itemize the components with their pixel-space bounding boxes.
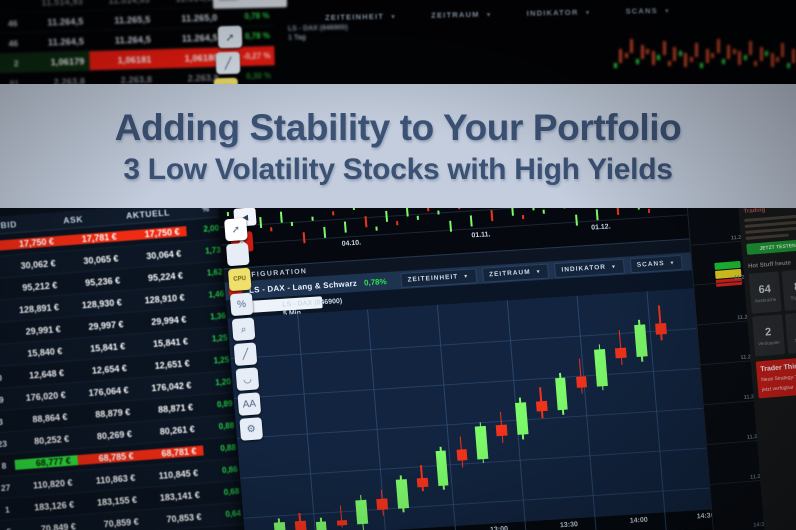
- candlestick: [396, 479, 409, 508]
- row-id: 2: [0, 58, 24, 69]
- row-ask: 30,065 €: [62, 252, 126, 267]
- stat-tile[interactable]: 5 Trends: [785, 312, 796, 354]
- candlestick: [469, 215, 472, 226]
- candle-wick: [278, 518, 282, 530]
- row-bid: 12,648 €: [8, 367, 72, 382]
- candlestick: [343, 222, 346, 233]
- candlestick: [648, 209, 650, 213]
- candlestick: [426, 208, 429, 211]
- row-aktuell: 95,224 €: [127, 269, 191, 284]
- candlestick: [576, 376, 588, 388]
- candlestick: [227, 212, 229, 216]
- search-icon[interactable]: ⌕: [232, 317, 256, 341]
- candlestick: [684, 53, 687, 67]
- row-bid: 17,750 €: [0, 235, 61, 250]
- candlestick: [760, 47, 763, 61]
- candlestick: [536, 400, 548, 412]
- candlestick: [615, 347, 627, 359]
- row-bid: 11.264,5: [22, 16, 89, 28]
- candlestick: [673, 47, 676, 61]
- candlestick: [259, 217, 262, 228]
- candlestick: [717, 39, 720, 53]
- candlestick: [575, 215, 578, 226]
- header-aktuell: AKTUELL: [122, 208, 186, 220]
- percent-tool-icon[interactable]: %: [230, 293, 254, 317]
- candlestick: [744, 55, 747, 60]
- candlestick: [543, 210, 545, 214]
- candlestick: [787, 63, 790, 68]
- candlestick: [637, 208, 640, 210]
- header-ask: ASK: [59, 211, 123, 226]
- candle-wick: [638, 320, 643, 361]
- candlestick: [332, 211, 334, 215]
- time-tick: 13:30: [560, 521, 578, 529]
- row-ask: 29,997 €: [67, 318, 131, 333]
- candlestick: [738, 51, 741, 65]
- row-id: 46: [0, 38, 23, 49]
- candlestick: [417, 216, 419, 220]
- header-bid: BID: [0, 215, 60, 230]
- candlestick: [435, 451, 449, 486]
- candle-wick: [479, 422, 484, 463]
- grid-line: [297, 314, 317, 530]
- candlestick: [641, 45, 644, 59]
- candle-wick: [519, 398, 524, 439]
- top-symbol-label: LS - DAX (846900) 1 Tag: [288, 23, 348, 42]
- candlestick: [706, 49, 709, 63]
- date-tick: 04.10.: [341, 240, 361, 248]
- row-ask: 15,841 €: [69, 340, 133, 355]
- candlestick: [396, 221, 398, 225]
- row-id: [0, 3, 22, 4]
- candlestick: [614, 63, 617, 68]
- candlestick: [655, 323, 667, 335]
- cursor-tool-icon[interactable]: ➚: [218, 26, 243, 49]
- menu-zeiteinheit[interactable]: ZEITEINHEIT: [325, 11, 397, 22]
- candlestick: [311, 217, 313, 221]
- candlestick: [733, 49, 736, 54]
- line-tool-icon[interactable]: ╱: [234, 342, 258, 366]
- candlestick: [302, 232, 305, 243]
- top-symbol-name: LS - DAX (846900): [288, 23, 348, 33]
- row-ask: 11.264,5: [90, 34, 157, 46]
- row-ask: 17,781 €: [60, 230, 124, 245]
- candle-wick: [658, 306, 662, 341]
- candlestick: [405, 208, 408, 217]
- candlestick: [668, 61, 671, 66]
- menu-zeitraum[interactable]: ZEITRAUM: [482, 263, 550, 282]
- candlestick: [291, 222, 293, 226]
- candlestick: [679, 51, 682, 56]
- candlestick: [663, 41, 666, 55]
- stat-tile[interactable]: 8 Signale: [781, 269, 796, 311]
- row-bid: 128,891 €: [3, 301, 67, 316]
- row-ask: 128,930 €: [65, 296, 129, 311]
- row-bid: 11.514,93: [22, 0, 89, 8]
- date-tick: 01.12.: [591, 223, 611, 231]
- row-bid: 30,062 €: [0, 257, 63, 272]
- row-aktuell: 88,871 €: [137, 401, 201, 416]
- candlestick: [531, 208, 534, 210]
- candlestick: [458, 208, 460, 209]
- candlestick: [456, 449, 468, 461]
- text-tool-icon[interactable]: AA: [237, 392, 261, 416]
- row-aktuell: 176,042 €: [135, 379, 199, 394]
- candlestick: [646, 49, 649, 54]
- time-tick: 13:00: [490, 526, 508, 530]
- candlestick: [437, 210, 439, 214]
- hot-stuff-title: Hot Stuff heute: [748, 259, 796, 270]
- row-bid: 29,991 €: [4, 323, 68, 338]
- row-nev: 1: [0, 503, 19, 515]
- candlestick: [336, 520, 347, 525]
- menu-zeitraum[interactable]: ZEITRAUM: [431, 9, 493, 19]
- stat-tile[interactable]: 64 Ausbrüche: [749, 271, 782, 313]
- settings-tool-icon[interactable]: ⚙: [239, 417, 263, 441]
- candlestick: [776, 57, 779, 62]
- row-aktuell: 110,845 €: [142, 467, 206, 482]
- instrument-label: LS - DAX - Lang & Schwarz: [244, 278, 363, 295]
- candlestick-plot[interactable]: 12:30 13:00 13:30 14:00 14:30: [227, 286, 745, 530]
- cursor-tool-icon[interactable]: ➚: [224, 218, 248, 242]
- candlestick: [323, 227, 326, 238]
- blank-tool-icon[interactable]: [226, 243, 250, 267]
- row-ask: 68,785 €: [77, 450, 141, 465]
- time-tick: 14:00: [630, 517, 648, 525]
- candle-wick: [559, 373, 564, 414]
- row-aktuell: 70,853 €: [145, 511, 209, 526]
- candlestick: [555, 377, 568, 410]
- line-tool-icon[interactable]: ╱: [216, 52, 241, 75]
- top-search-placeholder: Suchen: [218, 0, 238, 3]
- candlestick: [771, 53, 774, 67]
- candlestick: [781, 43, 784, 57]
- candlestick: [449, 221, 452, 232]
- row-ask: 88,879 €: [74, 406, 138, 421]
- grid-line: [367, 309, 387, 530]
- candlestick: [356, 500, 369, 525]
- row-ask: 11.265,5: [89, 14, 156, 26]
- news-headline: Trader Fox Live Trading: [743, 208, 796, 215]
- candlestick: [385, 211, 388, 222]
- row-aktuell: 29,994 €: [130, 313, 194, 328]
- candlestick: [475, 426, 488, 459]
- top-quote-strip: 11.514,93 11.514,93 11.514,93 0,79 % 46 …: [0, 0, 796, 86]
- page-title: Adding Stability to Your Portfolio: [115, 106, 682, 150]
- row-ask: 11.514,93: [89, 0, 156, 6]
- row-aktuell: 80,261 €: [138, 423, 202, 438]
- quote-board: NEV BID ASK AKTUELL % 2117,750 €17,781 €…: [0, 208, 257, 530]
- candlestick: [376, 498, 388, 510]
- candlestick: [619, 49, 622, 63]
- candle-wick: [420, 465, 424, 491]
- candle-wick: [340, 506, 343, 528]
- news-text-line: [746, 233, 789, 239]
- menu-indikator[interactable]: INDIKATOR: [554, 258, 625, 277]
- promo-line-2: jetzt verfügbar: [762, 383, 796, 393]
- row-aktuell: 1,06180: [157, 52, 224, 64]
- row-nev: 3: [0, 416, 12, 428]
- candlestick: [496, 425, 508, 437]
- candlestick: [630, 39, 633, 53]
- row-bid: 110,820 €: [16, 477, 80, 492]
- candlestick: [722, 59, 725, 64]
- row-id: 46: [0, 18, 23, 29]
- candle-wick: [320, 518, 324, 530]
- stat-tile[interactable]: 2 Verdoppler: [752, 314, 785, 356]
- candlestick: [700, 63, 703, 68]
- menu-indikator[interactable]: INDIKATOR: [527, 7, 592, 17]
- row-nev: 27: [0, 481, 17, 493]
- date-tick: 01.11.: [471, 231, 491, 239]
- candle-wick: [440, 447, 445, 491]
- row-bid: 80,252 €: [13, 433, 77, 448]
- grid-line: [234, 366, 733, 399]
- board-rows: 2117,750 €17,781 €17,750 €2,00 %630,062 …: [0, 217, 258, 530]
- row-aktuell: 12,651 €: [133, 357, 197, 372]
- candlestick: [375, 226, 377, 230]
- promo-line-1: Neue Strategy-Tools: [761, 373, 796, 383]
- page-subtitle: 3 Low Volatility Stocks with High Yields: [123, 152, 672, 188]
- candle-wick: [460, 437, 464, 468]
- candle-wick: [360, 495, 364, 530]
- row-bid: 15,840 €: [6, 345, 70, 360]
- candlestick: [765, 51, 768, 56]
- cpu-tool-icon[interactable]: CPU: [228, 268, 252, 292]
- row-aktuell: 128,910 €: [128, 291, 192, 306]
- candlestick: [634, 324, 647, 357]
- row-bid: 95,212 €: [1, 279, 65, 294]
- candlestick: [616, 208, 619, 215]
- top-mini-chart: [610, 0, 796, 86]
- candlestick: [353, 208, 355, 210]
- candlestick: [749, 41, 752, 55]
- row-ask: 95,236 €: [64, 274, 128, 289]
- candle-wick: [380, 490, 384, 516]
- candlestick: [690, 57, 693, 62]
- title-banner: Adding Stability to Your Portfolio 3 Low…: [0, 84, 796, 210]
- candlestick: [316, 522, 328, 530]
- candlestick: [594, 349, 608, 387]
- candle-wick: [618, 330, 622, 365]
- row-ask: 80,269 €: [76, 428, 140, 443]
- candlestick: [515, 402, 528, 435]
- candle-wick: [400, 475, 404, 512]
- candlestick: [279, 212, 282, 223]
- candlestick: [754, 61, 757, 66]
- row-bid: 70,849 €: [20, 520, 84, 530]
- row-aktuell: 183,141 €: [143, 489, 207, 504]
- row-ask: 12,654 €: [71, 362, 135, 377]
- screenshot-root: 11.514,93 11.514,93 11.514,93 0,79 % 46 …: [0, 0, 796, 530]
- candle-wick: [599, 345, 604, 391]
- candlestick: [274, 522, 286, 530]
- stat-value: 2: [765, 326, 772, 338]
- stat-tiles-row: 2 Verdoppler 5 Trends: [752, 312, 796, 357]
- row-bid: 88,864 €: [11, 411, 75, 426]
- stat-label: Verdoppler: [758, 339, 780, 346]
- row-ask: 70,859 €: [82, 516, 146, 530]
- candlestick: [417, 478, 429, 487]
- candlestick: [695, 43, 698, 57]
- row-bid: 176,020 €: [9, 389, 73, 404]
- candle-wick: [299, 513, 303, 530]
- candlestick: [727, 45, 730, 59]
- row-nev: 23: [0, 438, 14, 450]
- row-aktuell: 68,781 €: [140, 445, 204, 460]
- menu-scans[interactable]: SCANS: [629, 254, 683, 272]
- row-bid: 1,06179: [23, 56, 90, 68]
- candlestick: [595, 209, 598, 220]
- candlestick: [511, 208, 514, 216]
- cta-button[interactable]: JETZT TESTEN: [746, 239, 796, 255]
- candlestick: [792, 49, 795, 63]
- row-ask: 176,064 €: [72, 384, 136, 399]
- candle-wick: [539, 388, 543, 419]
- candlestick: [711, 53, 714, 58]
- row-ask: 1,06181: [90, 54, 157, 66]
- row-aktuell: 17,750 €: [123, 226, 187, 241]
- candlestick: [652, 51, 655, 65]
- row-aktuell: 30,064 €: [125, 248, 189, 263]
- top-symbol-interval: 1 Tag: [288, 32, 348, 42]
- candlestick: [490, 210, 493, 221]
- row-ask: 110,863 €: [79, 472, 143, 487]
- stat-tiles-row: 64 Ausbrüche 8 Signale: [749, 269, 796, 314]
- row-ask: 183,155 €: [81, 494, 145, 509]
- candlestick: [295, 521, 307, 530]
- stat-value: 64: [758, 283, 771, 296]
- grid-line: [437, 305, 457, 530]
- row-bid: 11.264,5: [23, 36, 90, 48]
- row-bid: 183,126 €: [18, 499, 82, 514]
- menu-zeiteinheit[interactable]: ZEITEINHEIT: [400, 268, 477, 288]
- change-percent: 0,78%: [364, 276, 395, 287]
- grid-line: [240, 446, 739, 479]
- row-aktuell: 15,841 €: [132, 335, 196, 350]
- stat-label: Ausbrüche: [755, 296, 777, 303]
- curve-tool-icon[interactable]: ◡: [236, 367, 260, 391]
- candlestick: [625, 53, 628, 58]
- candle-wick: [499, 412, 503, 443]
- row-nev: 5: [0, 525, 20, 530]
- stat-label: Signale: [790, 294, 796, 300]
- bottom-scene: NEV BID ASK AKTUELL % 2117,750 €17,781 €…: [0, 208, 796, 530]
- row-nev: 8: [0, 459, 15, 471]
- promo-title: Trader Think: [760, 362, 796, 373]
- candlestick: [270, 227, 272, 231]
- candlestick: [636, 59, 639, 64]
- candlestick: [657, 55, 660, 60]
- promo-block[interactable]: Trader Think Neue Strategy-Tools jetzt v…: [756, 357, 796, 399]
- candlestick: [522, 215, 524, 219]
- row-bid: 68,777 €: [14, 455, 78, 470]
- chart-window: 04.10. 01.11. 01.12. KONFIGURATION LS - …: [218, 208, 745, 530]
